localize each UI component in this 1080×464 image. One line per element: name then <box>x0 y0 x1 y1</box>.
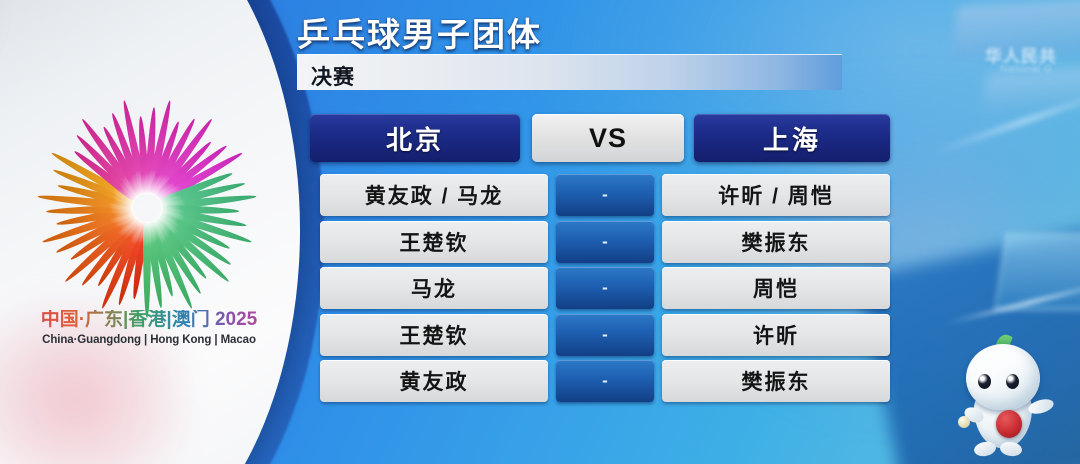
scoreboard-header-row: 北京 VS 上海 <box>310 114 888 162</box>
match-score: - <box>556 360 654 402</box>
mascot-eye-left <box>978 374 991 389</box>
mascot-head <box>966 344 1040 410</box>
match-score: - <box>556 174 654 216</box>
national-games-logo: 中国·广东|香港|澳门 2025 China·Guangdong | Hong … <box>22 100 272 360</box>
match-home-player: 王楚钦 <box>320 221 548 263</box>
match-home-player: 马龙 <box>320 267 548 309</box>
match-row: 黄友政-樊振东 <box>310 360 892 402</box>
logo-petal <box>143 222 151 318</box>
mascot-paddle-icon <box>996 410 1022 438</box>
logo-text-chinese: 中国·广东|香港|澳门 2025 <box>26 310 272 329</box>
mascot-foot-left <box>973 440 997 458</box>
page-title: 乒乓球男子团体 <box>297 8 542 56</box>
match-away-player: 周恺 <box>662 267 890 309</box>
match-away-player: 许昕 / 周恺 <box>662 174 890 216</box>
mascot-ball-icon <box>958 416 970 428</box>
home-team-name: 北京 <box>310 114 520 162</box>
match-away-player: 樊振东 <box>662 360 890 402</box>
match-score: - <box>556 221 654 263</box>
stage-label: 决赛 <box>311 61 355 91</box>
match-score: - <box>556 314 654 356</box>
background-blurred-english-text: National G <box>1000 64 1052 75</box>
match-home-player: 黄友政 / 马龙 <box>320 174 548 216</box>
match-row: 王楚钦-樊振东 <box>310 221 892 263</box>
scoreboard: 北京 VS 上海 黄友政 / 马龙-许昕 / 周恺王楚钦-樊振东马龙-周恺王楚钦… <box>310 114 892 414</box>
mascot-eye-right <box>1006 374 1019 389</box>
match-away-player: 许昕 <box>662 314 890 356</box>
match-score: - <box>556 267 654 309</box>
stage-bar: 决赛 <box>297 54 842 90</box>
mascot <box>952 330 1060 460</box>
match-away-player: 樊振东 <box>662 221 890 263</box>
match-row: 王楚钦-许昕 <box>310 314 892 356</box>
match-home-player: 王楚钦 <box>320 314 548 356</box>
away-team-name: 上海 <box>694 114 890 162</box>
mascot-foot-right <box>999 441 1023 458</box>
match-home-player: 黄友政 <box>320 360 548 402</box>
match-row: 黄友政 / 马龙-许昕 / 周恺 <box>310 174 892 216</box>
match-row: 马龙-周恺 <box>310 267 892 309</box>
broadcast-graphic-overlay: 华人民共 National G 中国·广东|香港|澳门 2025 China·G… <box>0 0 1080 464</box>
vs-label: VS <box>532 114 684 162</box>
logo-text-english: China·Guangdong | Hong Kong | Macao <box>26 334 272 346</box>
